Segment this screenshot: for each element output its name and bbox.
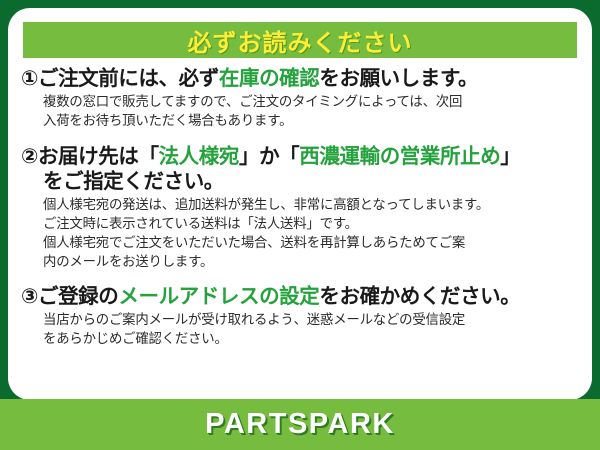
notice-panel: 必ずお読みください ①ご注文前には、必ず在庫の確認をお願いします。 複数の窓口で…	[8, 8, 592, 400]
notice-item-3-body: 当店からのご案内メールが受け取れるよう、迷惑メールなどの受信設定 をあらかじめご…	[21, 311, 582, 349]
footer-bar: PARTSPARK	[0, 399, 600, 450]
notice-item-2-heading: ②お届け先は「法人様宛」か「西濃運輸の営業所止め」	[21, 144, 582, 169]
notice-item-1-heading-part-1: ご注文前には、必ず	[38, 66, 219, 90]
notice-item-2-body-line-3: 個人様宅宛でご注文をいただいた場合、送料を再計算しあらためてご案	[43, 234, 582, 253]
notice-item-1-body-line-1: 複数の窓口で販売してますので、ご注文のタイミングによっては、次回	[43, 93, 582, 112]
notice-item-3-body-line-1: 当店からのご案内メールが受け取れるよう、迷惑メールなどの受信設定	[43, 311, 582, 330]
notice-item-1: ①ご注文前には、必ず在庫の確認をお願いします。 複数の窓口で販売してますので、ご…	[21, 66, 582, 131]
notice-item-1-body-line-2: 入荷をお待ち頂いただく場合もあります。	[43, 112, 582, 131]
notice-item-2-heading-part-5: 」	[500, 144, 520, 168]
notice-item-1-heading: ①ご注文前には、必ず在庫の確認をお願いします。	[21, 66, 582, 91]
notice-item-3-body-line-2: をあらかじめご確認ください。	[43, 330, 582, 349]
notice-content: ①ご注文前には、必ず在庫の確認をお願いします。 複数の窓口で販売してますので、ご…	[8, 66, 592, 351]
notice-item-1-heading-part-3: をお願いします。	[319, 66, 478, 90]
header-title: 必ずお読みください	[188, 23, 413, 58]
notice-item-2-marker: ②	[21, 144, 38, 168]
notice-item-2: ②お届け先は「法人様宛」か「西濃運輸の営業所止め」 をご指定ください。 個人様宅…	[21, 144, 582, 272]
notice-item-2-body: 個人様宅宛の発送は、追加送料が発生し、非常に高額となってしまいます。 ご注文時に…	[21, 196, 582, 272]
notice-item-1-marker: ①	[21, 66, 38, 90]
notice-item-2-body-line-1: 個人様宅宛の発送は、追加送料が発生し、非常に高額となってしまいます。	[43, 196, 582, 215]
partspark-logo: PARTSPARK	[205, 408, 395, 441]
notice-item-2-heading-line-2: をご指定ください。	[21, 169, 582, 194]
notice-item-1-heading-highlight: 在庫の確認	[219, 66, 320, 90]
notice-item-2-heading-highlight-1: 法人様宛	[159, 144, 239, 168]
notice-item-2-heading-highlight-2: 西濃運輸の営業所止め	[299, 144, 500, 168]
header-bar: 必ずお読みください	[23, 22, 577, 58]
notice-item-2-body-line-4: 内のメールをお送りします。	[43, 253, 582, 272]
notice-item-3: ③ご登録のメールアドレスの設定をお確かめください。 当店からのご案内メールが受け…	[21, 284, 582, 349]
notice-item-3-marker: ③	[21, 284, 38, 308]
notice-item-3-heading-highlight: メールアドレスの設定	[118, 284, 319, 308]
notice-item-3-heading-part-1: ご登録の	[38, 284, 118, 308]
notice-item-2-heading-part-1: お届け先は「	[38, 144, 159, 168]
notice-item-3-heading-part-3: をお確かめください。	[319, 284, 520, 308]
notice-banner: 必ずお読みください ①ご注文前には、必ず在庫の確認をお願いします。 複数の窓口で…	[0, 0, 600, 450]
notice-item-3-heading: ③ご登録のメールアドレスの設定をお確かめください。	[21, 284, 582, 309]
notice-item-1-body: 複数の窓口で販売してますので、ご注文のタイミングによっては、次回 入荷をお待ち頂…	[21, 93, 582, 131]
notice-item-2-heading-part-3: 」か「	[239, 144, 299, 168]
notice-item-2-body-line-2: ご注文時に表示されている送料は「法人送料」です。	[43, 215, 582, 234]
